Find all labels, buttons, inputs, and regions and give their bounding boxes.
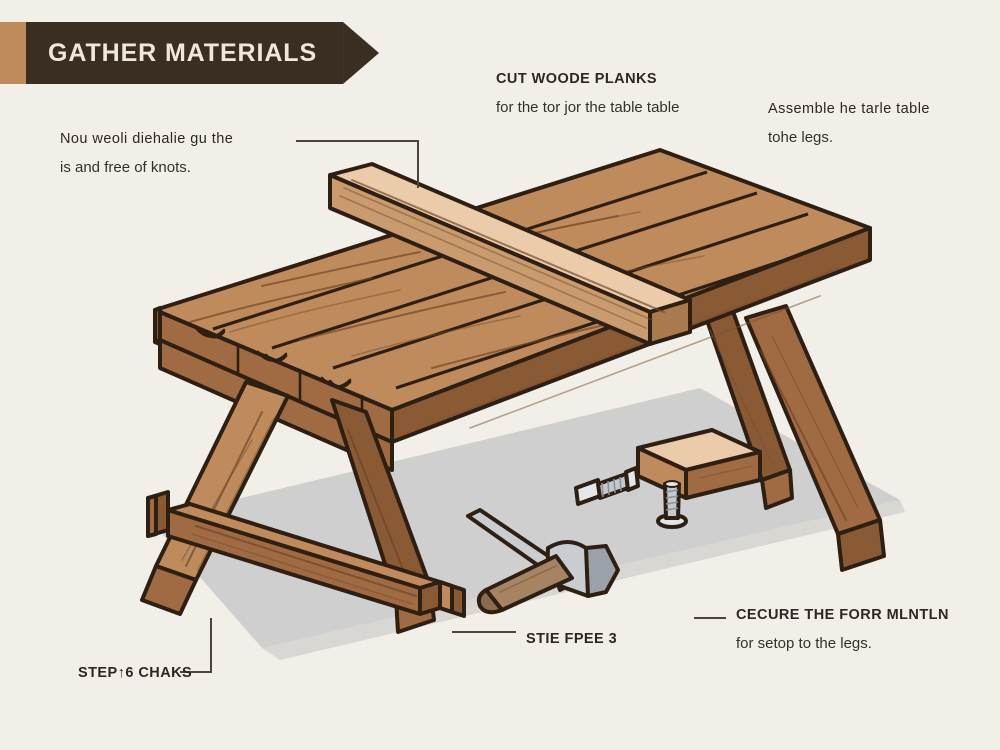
banner-arrow-tip (343, 22, 379, 84)
callout-left-body: is and free of knots. (60, 157, 233, 179)
banner-accent-tab (0, 22, 26, 84)
callout-assemble: Assemble he tarle table tohe legs. (768, 100, 930, 148)
callout-step-6: STEP↑6 CHAKS (78, 664, 192, 684)
callout-cut-planks: CUT WOODE PLANKS for the tor jor the tab… (496, 70, 679, 118)
callout-step3-heading: STIE FPEE 3 (526, 630, 617, 650)
banner-title: GATHER MATERIALS (48, 39, 317, 68)
callout-secure-heading: CECURE THE FORR MLNTLN (736, 606, 949, 626)
callout-right-body: tohe legs. (768, 127, 930, 149)
callout-step-3: STIE FPEE 3 (526, 630, 617, 650)
callout-top-heading: CUT WOODE PLANKS (496, 70, 679, 90)
gather-materials-banner: GATHER MATERIALS (0, 22, 379, 84)
banner-body: GATHER MATERIALS (26, 22, 343, 84)
callout-step6-heading: STEP↑6 CHAKS (78, 664, 192, 684)
callout-left-heading: Nou weoli diehalie gu the (60, 130, 233, 150)
callout-secure-body: for setop to the legs. (736, 633, 949, 655)
callout-top-body: for the tor jor the table table (496, 97, 679, 119)
callout-right-heading: Assemble he tarle table (768, 100, 930, 120)
illustration-canvas: .ol { stroke:#2E1F13; stroke-width:4; st… (0, 0, 1000, 750)
callout-secure: CECURE THE FORR MLNTLN for setop to the … (736, 606, 949, 654)
callout-gather-materials: Nou weoli diehalie gu the is and free of… (60, 130, 233, 178)
